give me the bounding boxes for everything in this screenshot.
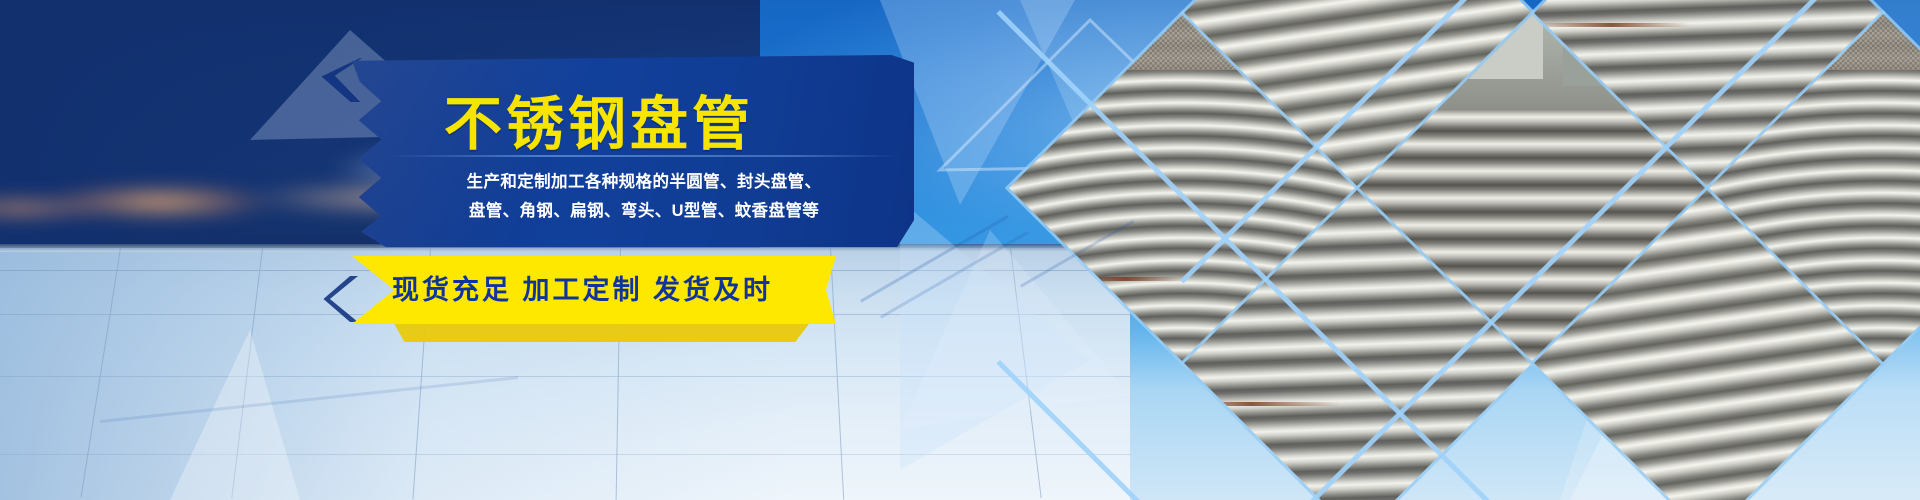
page-title: 不锈钢盘管: [444, 96, 914, 154]
product-banner: 不锈钢盘管 生产和定制加工各种规格的半圆管、封头盘管、 盘管、角钢、扁钢、弯头、…: [0, 0, 1920, 500]
product-photo-mosaic: [1000, 0, 1920, 500]
subtitle-block: 生产和定制加工各种规格的半圆管、封头盘管、 盘管、角钢、扁钢、弯头、U型管、蚊香…: [388, 168, 900, 226]
feature-ribbon-text: 现货充足 加工定制 发货及时: [392, 270, 812, 310]
subtitle-line-1: 生产和定制加工各种规格的半圆管、封头盘管、: [388, 168, 900, 197]
subtitle-line-2: 盘管、角钢、扁钢、弯头、U型管、蚊香盘管等: [388, 197, 900, 226]
